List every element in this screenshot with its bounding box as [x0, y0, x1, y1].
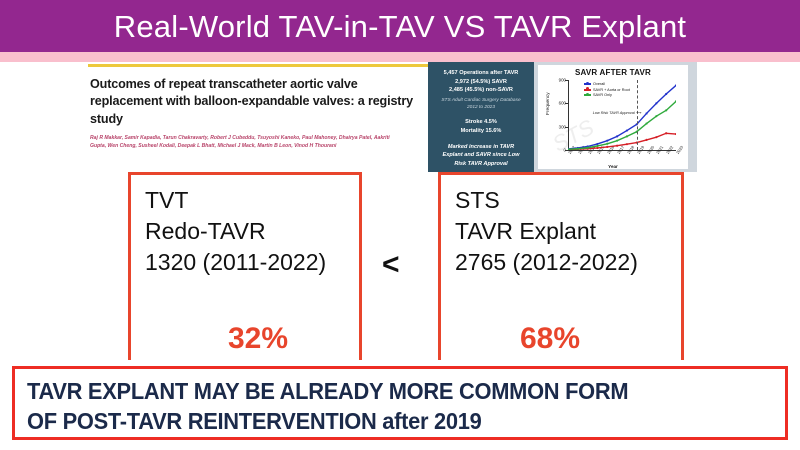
chart-x-tick: 2023: [675, 145, 684, 155]
sts-source-database: STS Adult Cardiac Surgery Database: [428, 97, 534, 104]
left-procedure-name: Redo-TAVR: [145, 216, 326, 247]
chart-plot-area: SAVR AFTER TAVR STS Frequency Year 03006…: [538, 65, 688, 169]
left-case-count: 1320 (2011-2022): [145, 247, 326, 278]
article-title: Outcomes of repeat transcatheter aortic …: [90, 76, 430, 128]
legend-swatch-icon: [584, 89, 591, 91]
slide-title-bar: Real-World TAV-in-TAV VS TAVR Explant: [0, 0, 800, 52]
conclusion-line-1: TAVR EXPLANT MAY BE ALREADY MORE COMMON …: [27, 376, 726, 406]
chart-legend: OverallSAVR + Aorta or RootSAVR Only: [584, 82, 630, 99]
left-registry-name: TVT: [145, 185, 326, 216]
sts-note-line-2: Explant and SAVR since Low: [428, 151, 534, 160]
sts-source-years: 2012 to 2023: [428, 104, 534, 111]
sts-stroke-rate: Stroke 4.5%: [428, 118, 534, 127]
sts-savr-count: 2,972 (54.5%) SAVR: [428, 78, 534, 87]
sts-nonsavr-count: 2,485 (45.5%) non-SAVR: [428, 86, 534, 95]
chart-annotation: Low Risk TAVR Approval ⟶: [593, 110, 642, 115]
chart-legend-item: SAVR + Aorta or Root: [584, 88, 630, 92]
right-registry-name: STS: [455, 185, 638, 216]
less-than-operator: <: [382, 248, 400, 282]
chart-legend-item: SAVR Only: [584, 93, 630, 97]
article-authors: Raj R Makkar, Samir Kapadia, Tarun Chakr…: [90, 134, 395, 151]
right-procedure-name: TAVR Explant: [455, 216, 638, 247]
conclusion-text: TAVR EXPLANT MAY BE ALREADY MORE COMMON …: [27, 376, 726, 436]
legend-label: SAVR Only: [593, 93, 612, 97]
slide-canvas: Real-World TAV-in-TAV VS TAVR Explant Ou…: [0, 0, 800, 450]
legend-swatch-icon: [584, 94, 591, 96]
legend-swatch-icon: [584, 83, 591, 85]
journal-article-clipping: Outcomes of repeat transcatheter aortic …: [90, 76, 430, 151]
sts-note-line-1: Marked increase in TAVR: [428, 143, 534, 152]
sts-summary-panel: 5,457 Operations after TAVR 2,972 (54.5%…: [428, 62, 534, 172]
sts-operations: 5,457 Operations after TAVR: [428, 69, 534, 78]
sts-note-line-3: Risk TAVR Approval: [428, 160, 534, 169]
page-title: Real-World TAV-in-TAV VS TAVR Explant: [0, 0, 800, 52]
chart-y-axis-label: Frequency: [546, 92, 551, 115]
sts-mortality-rate: Mortality 15.6%: [428, 127, 534, 136]
chart-legend-item: Overall: [584, 82, 630, 86]
right-case-count: 2765 (2012-2022): [455, 247, 638, 278]
chart-title: SAVR AFTER TAVR: [538, 68, 688, 77]
legend-label: Overall: [593, 82, 605, 86]
right-percentage: 68%: [520, 322, 580, 356]
pink-accent-band: [0, 52, 800, 62]
savr-after-tavr-chart: SAVR AFTER TAVR STS Frequency Year 03006…: [534, 62, 697, 172]
conclusion-box: TAVR EXPLANT MAY BE ALREADY MORE COMMON …: [12, 366, 788, 440]
redo-tavr-text-block: TVT Redo-TAVR 1320 (2011-2022): [145, 185, 326, 278]
chart-approval-marker: [637, 80, 638, 150]
legend-label: SAVR + Aorta or Root: [593, 88, 630, 92]
left-percentage: 32%: [228, 322, 288, 356]
gold-divider-rule: [88, 64, 430, 67]
chart-x-axis-label: Year: [538, 164, 688, 169]
conclusion-line-2: OF POST-TAVR REINTERVENTION after 2019: [27, 406, 726, 436]
tavr-explant-text-block: STS TAVR Explant 2765 (2012-2022): [455, 185, 638, 278]
